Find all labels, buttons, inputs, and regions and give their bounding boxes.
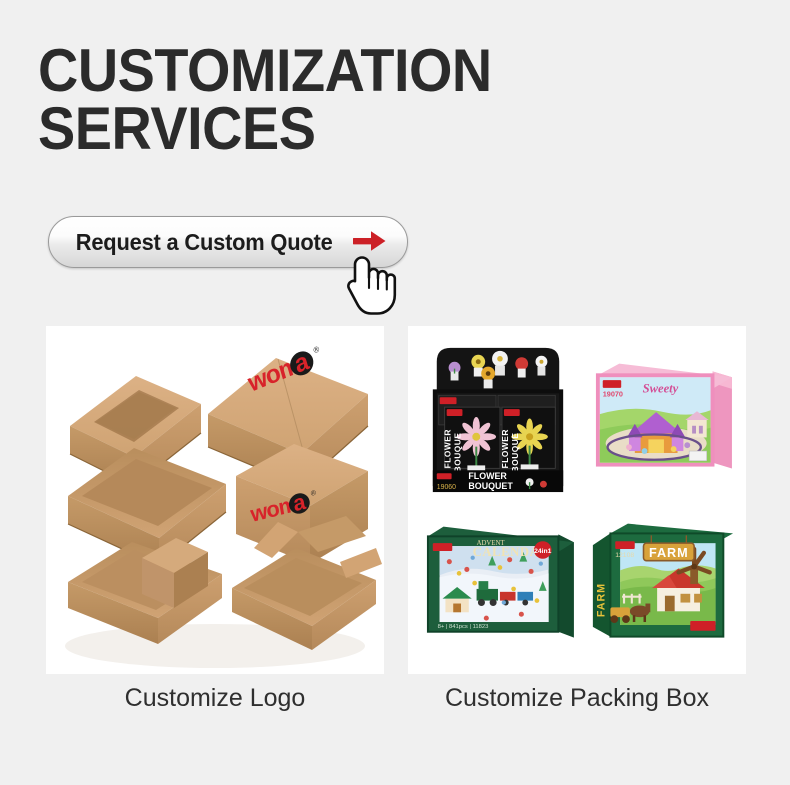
svg-text:12108: 12108: [615, 552, 634, 559]
svg-text:FARM: FARM: [596, 583, 608, 617]
svg-text:8+ | 841pcs | 11823: 8+ | 841pcs | 11823: [438, 624, 489, 630]
farm-windmill-box: FARM: [584, 506, 740, 666]
request-custom-quote-button[interactable]: Request a Custom Quote: [48, 216, 408, 268]
packaging-products-grid: FLOWER BOUQUE FLOWER BOUQUE FLOWER BOUQU…: [408, 326, 746, 674]
svg-text:BOUQUE: BOUQUE: [452, 433, 462, 473]
svg-text:BOUQUET: BOUQUET: [468, 481, 513, 491]
page-title-line-2: SERVICES: [38, 100, 559, 158]
svg-text:19070: 19070: [603, 390, 623, 399]
cta-button-area: Request a Custom Quote: [48, 216, 408, 268]
svg-text:FLOWER: FLOWER: [468, 471, 507, 481]
caption-customize-packing-box: Customize Packing Box: [408, 682, 746, 715]
customize-logo-card[interactable]: wom a ®: [46, 326, 384, 674]
page-title: CUSTOMIZATION SERVICES: [38, 42, 559, 158]
svg-text:FARM: FARM: [649, 546, 689, 560]
customization-services-section: CUSTOMIZATION SERVICES Request a Custom …: [0, 0, 790, 785]
kraft-boxes-image: wom a ®: [46, 326, 384, 674]
advent-calendar-box: ADVENT CALENDAR 24in1 8+ | 841pcs | 1182…: [416, 506, 580, 666]
svg-text:Sweety: Sweety: [643, 382, 679, 396]
svg-text:BOUQUE: BOUQUE: [510, 433, 520, 473]
card-captions: Customize Logo Customize Packing Box: [46, 682, 746, 715]
page-title-line-1: CUSTOMIZATION: [38, 42, 559, 100]
flower-bouquet-display-box: FLOWER BOUQUE FLOWER BOUQUE FLOWER BOUQU…: [416, 334, 580, 502]
arrow-right-icon: [353, 229, 387, 256]
amusement-park-box: 19070 Sweety: [584, 334, 740, 502]
svg-text:FLOWER: FLOWER: [443, 429, 453, 468]
customize-packing-box-card[interactable]: FLOWER BOUQUE FLOWER BOUQUE FLOWER BOUQU…: [408, 326, 746, 674]
caption-customize-logo: Customize Logo: [46, 682, 384, 715]
svg-text:24in1: 24in1: [534, 548, 552, 555]
svg-text:19060: 19060: [437, 484, 456, 491]
request-custom-quote-label: Request a Custom Quote: [76, 229, 333, 256]
svg-text:FLOWER: FLOWER: [500, 429, 510, 468]
customization-cards: wom a ®: [46, 326, 746, 674]
